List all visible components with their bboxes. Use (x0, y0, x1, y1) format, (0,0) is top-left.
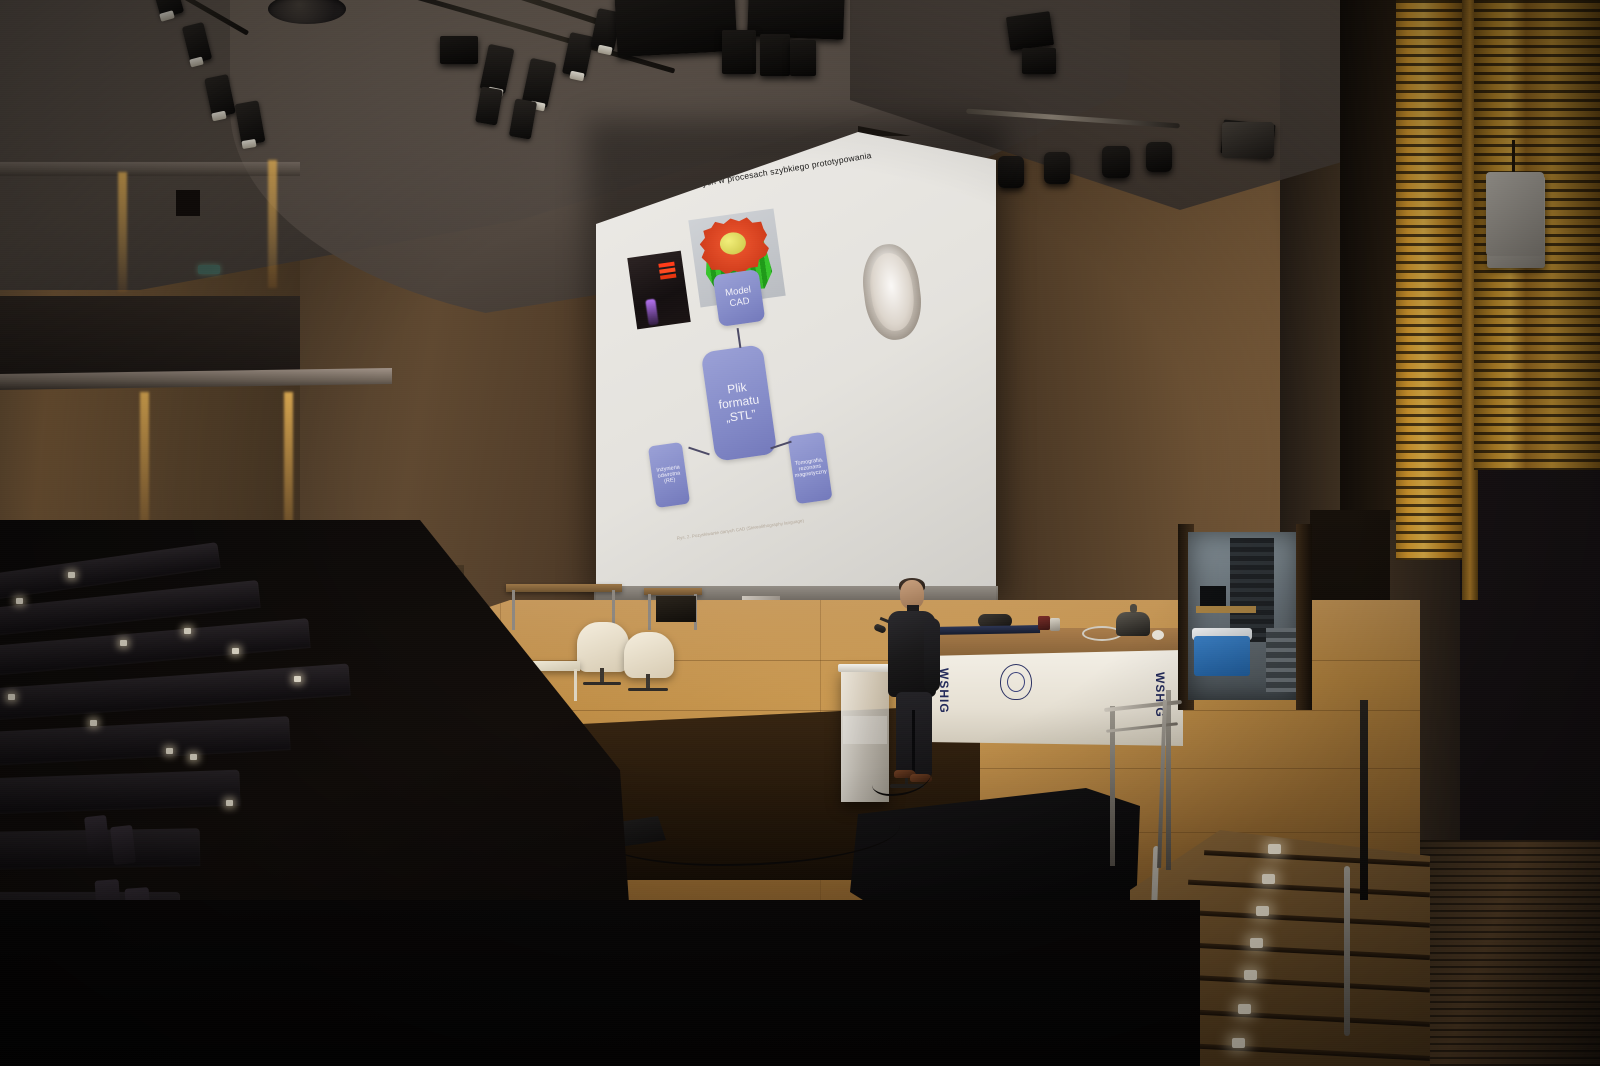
cup-white (1050, 618, 1060, 631)
foreground-floor (0, 900, 1200, 1066)
cup-red (1038, 616, 1050, 630)
acoustic-slat-panel-lower (1420, 840, 1600, 1066)
stage-spotlight-4 (1146, 142, 1172, 172)
backstage-doorway (1188, 532, 1300, 700)
balcony-door-opening (176, 190, 200, 216)
hanging-fixture-a (722, 30, 756, 74)
equipment-rack (1230, 538, 1274, 642)
small-bowl (1152, 630, 1164, 640)
hanging-fixture-b (760, 34, 790, 76)
hanging-fixture-d (440, 36, 478, 64)
doorway-frame-right (1296, 524, 1312, 710)
armchair-right (624, 632, 674, 678)
balcony-underside (0, 296, 300, 380)
teapot-handle-icon (1130, 604, 1137, 613)
wshig-banner: WSHIG WSHIG (925, 650, 1183, 746)
hanging-fixture-c (790, 40, 816, 76)
slide-node-stl-file: Plik formatu „STL” (701, 344, 778, 462)
hanging-light-box-1 (614, 0, 737, 57)
aisle-light-3 (184, 628, 191, 634)
back-table-equipment (656, 596, 696, 622)
stair-handrail-right[interactable] (1344, 866, 1350, 1036)
presenter-arm (924, 618, 940, 692)
wall-washer-light-1 (118, 172, 127, 292)
aisle-light-11 (226, 800, 233, 806)
acoustic-slat-panel-1 (1396, 0, 1462, 560)
equipment-cart (1266, 628, 1298, 692)
hanging-fixture-e (1006, 11, 1054, 51)
slide-node-model-cad: Model CAD (713, 269, 766, 327)
armchair-left (577, 622, 629, 672)
hanging-fixture-f (1022, 48, 1056, 74)
slide-node-tomography: Tomografia, rezonans magnetyczny (787, 432, 832, 504)
slide-node-reverse-engineering: Inżynieria odwrotna (RE) (648, 442, 690, 508)
aisle-light-9 (190, 754, 197, 760)
aisle-light-6 (8, 694, 15, 700)
university-crest-icon (1000, 664, 1032, 700)
slide-arrow-left (688, 447, 710, 456)
slide-arrow-up (737, 328, 742, 348)
auditorium-photo: Pozyskiwanie danych w procesach szybkieg… (0, 0, 1600, 1066)
wall-washer-light-3 (140, 392, 149, 542)
aisle-light-1 (16, 598, 23, 604)
wall-dark-strip-right (1340, 0, 1398, 520)
slide-scanner-photo (627, 251, 690, 330)
aisle-light-4 (232, 648, 239, 654)
aisle-light-8 (166, 748, 173, 754)
aisle-light-10 (120, 640, 127, 646)
back-table-left (506, 584, 622, 592)
guardrail-post-2 (1166, 690, 1171, 870)
stage-spotlight-2 (1044, 152, 1070, 184)
samovar-teapot (1116, 612, 1150, 636)
aisle-light-7 (90, 720, 97, 726)
aisle-light-5 (294, 676, 301, 682)
backstage-desk (1196, 606, 1256, 613)
aisle-light-2 (68, 572, 75, 578)
stage-spotlight-5 (1222, 122, 1274, 158)
slide-ct-skull-image (858, 241, 925, 343)
slide-caption: Rys. 2. Pozyskiwanie danych CAD (Stereol… (676, 512, 845, 541)
cooler-box (1194, 636, 1250, 676)
backstage-monitor (1200, 586, 1226, 606)
stage-side-post (1360, 700, 1368, 900)
stage-spotlight-3 (1102, 146, 1130, 178)
wall-speaker-right (1486, 172, 1544, 256)
exit-sign (198, 265, 220, 274)
